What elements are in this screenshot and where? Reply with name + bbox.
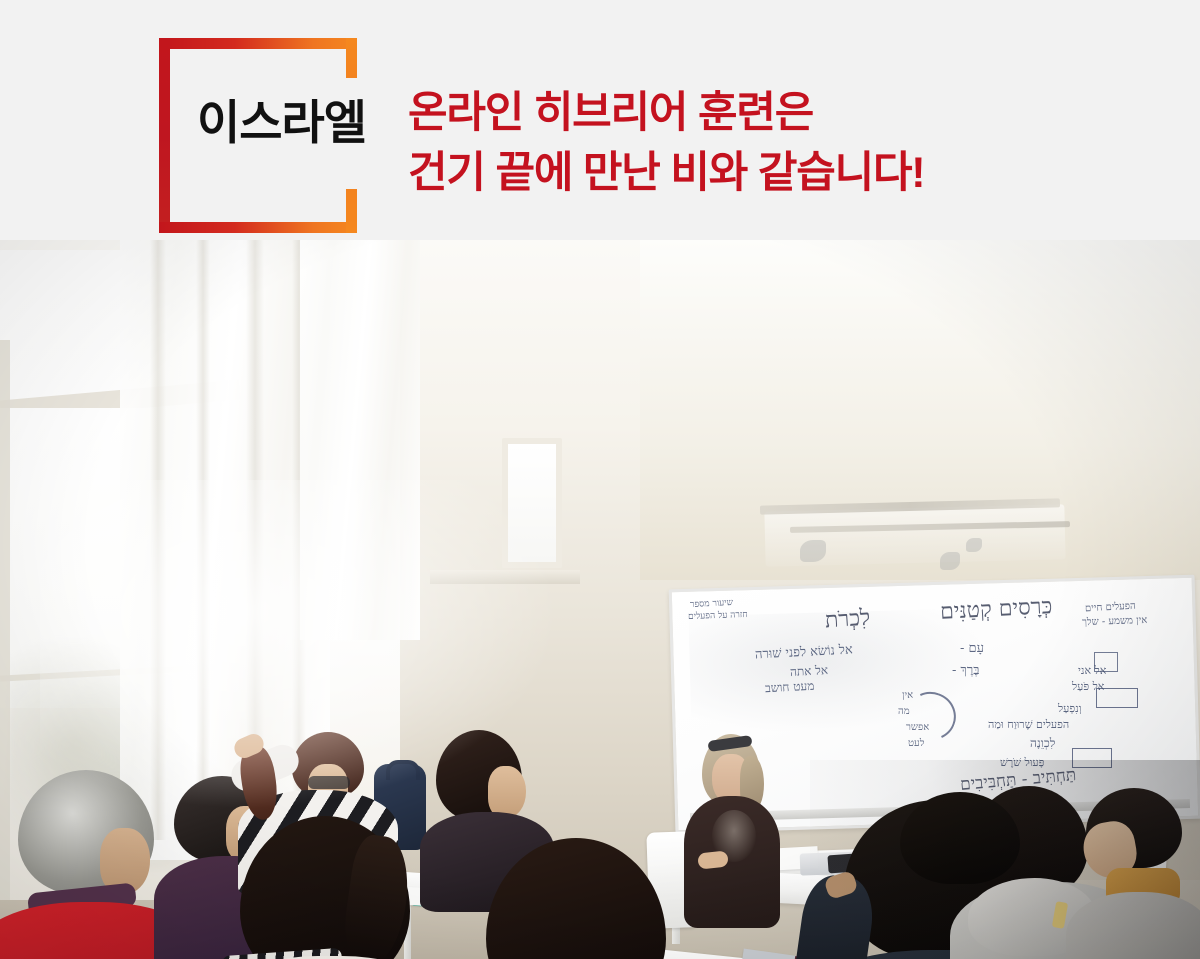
poster-root: 이스라엘 온라인 히브리어 훈련은 건기 끝에 만난 비와 같습니다!	[0, 0, 1200, 959]
person-looking-up	[1070, 788, 1200, 959]
whiteboard-box-2	[1072, 748, 1112, 768]
red-hoodie-hair	[486, 838, 666, 959]
person-white-hoodie	[200, 816, 480, 959]
whiteboard-box-1	[1096, 688, 1138, 708]
headline-line-2: 건기 끝에 만난 비와 같습니다!	[408, 143, 1168, 203]
classroom-photo: שיעור מספר חזרה על הפעלים לִכְרֹת כְּרָס…	[0, 240, 1200, 959]
whiteboard-note-6: - עָם	[960, 640, 984, 656]
headline: 온라인 히브리어 훈련은 건기 끝에 만난 비와 같습니다!	[408, 83, 1168, 203]
whiteboard-note-19: לעט	[908, 738, 924, 749]
whiteboard-note-2: חזרה על הפעלים	[688, 609, 748, 622]
frame-bar-left	[159, 38, 170, 233]
whiteboard-note-13: הפעלים שֶׁרוּוַח וּמַה	[988, 718, 1069, 731]
whiteboard-note-14: לִכְוֵנָה	[1030, 736, 1055, 751]
frame-bar-right-top	[346, 38, 357, 78]
logo-wordmark: 이스라엘	[197, 93, 372, 153]
curtain-right	[300, 240, 420, 640]
whiteboard-note-12: וְנִפְעַל	[1058, 702, 1082, 715]
frame-bar-bottom	[159, 222, 357, 233]
window-sill-mid	[430, 570, 580, 584]
whiteboard-note-9: אין משמע - שלך	[1082, 615, 1148, 628]
wall-decal-leaf-1	[800, 540, 826, 562]
whiteboard-note-15: פָּעוּל שֹׁרֶשׁ	[1000, 756, 1044, 769]
whiteboard-note-5: מעט חושב	[765, 679, 815, 697]
person-red-hoodie	[440, 838, 740, 959]
frame-bar-top	[159, 38, 357, 49]
person-silhouette-head	[900, 792, 1020, 884]
whiteboard-note-4: אל אתה	[790, 663, 829, 680]
curtain-fold-1	[150, 240, 166, 840]
striped-glasses	[308, 776, 350, 789]
whiteboard-note-1: שיעור מספר	[690, 597, 734, 610]
curtain-fold-2	[196, 240, 210, 840]
whiteboard-box-3	[1094, 652, 1118, 672]
whiteboard-note-7: - בֶּרֶךְ	[952, 662, 980, 678]
header-banner: 이스라엘 온라인 히브리어 훈련은 건기 끝에 만난 비와 같습니다!	[0, 0, 1200, 240]
frame-bar-right-bottom	[346, 189, 357, 233]
looking-up-torso	[1066, 892, 1200, 959]
wall-decal-leaf-2	[940, 552, 960, 570]
window-pane-mid	[508, 444, 556, 562]
whiteboard-title-1: לִכְרֹת	[824, 604, 871, 633]
wall-decal-leaf-3	[966, 538, 982, 552]
headline-line-1: 온라인 히브리어 훈련은	[408, 83, 1168, 143]
dark-back-face	[488, 766, 526, 818]
